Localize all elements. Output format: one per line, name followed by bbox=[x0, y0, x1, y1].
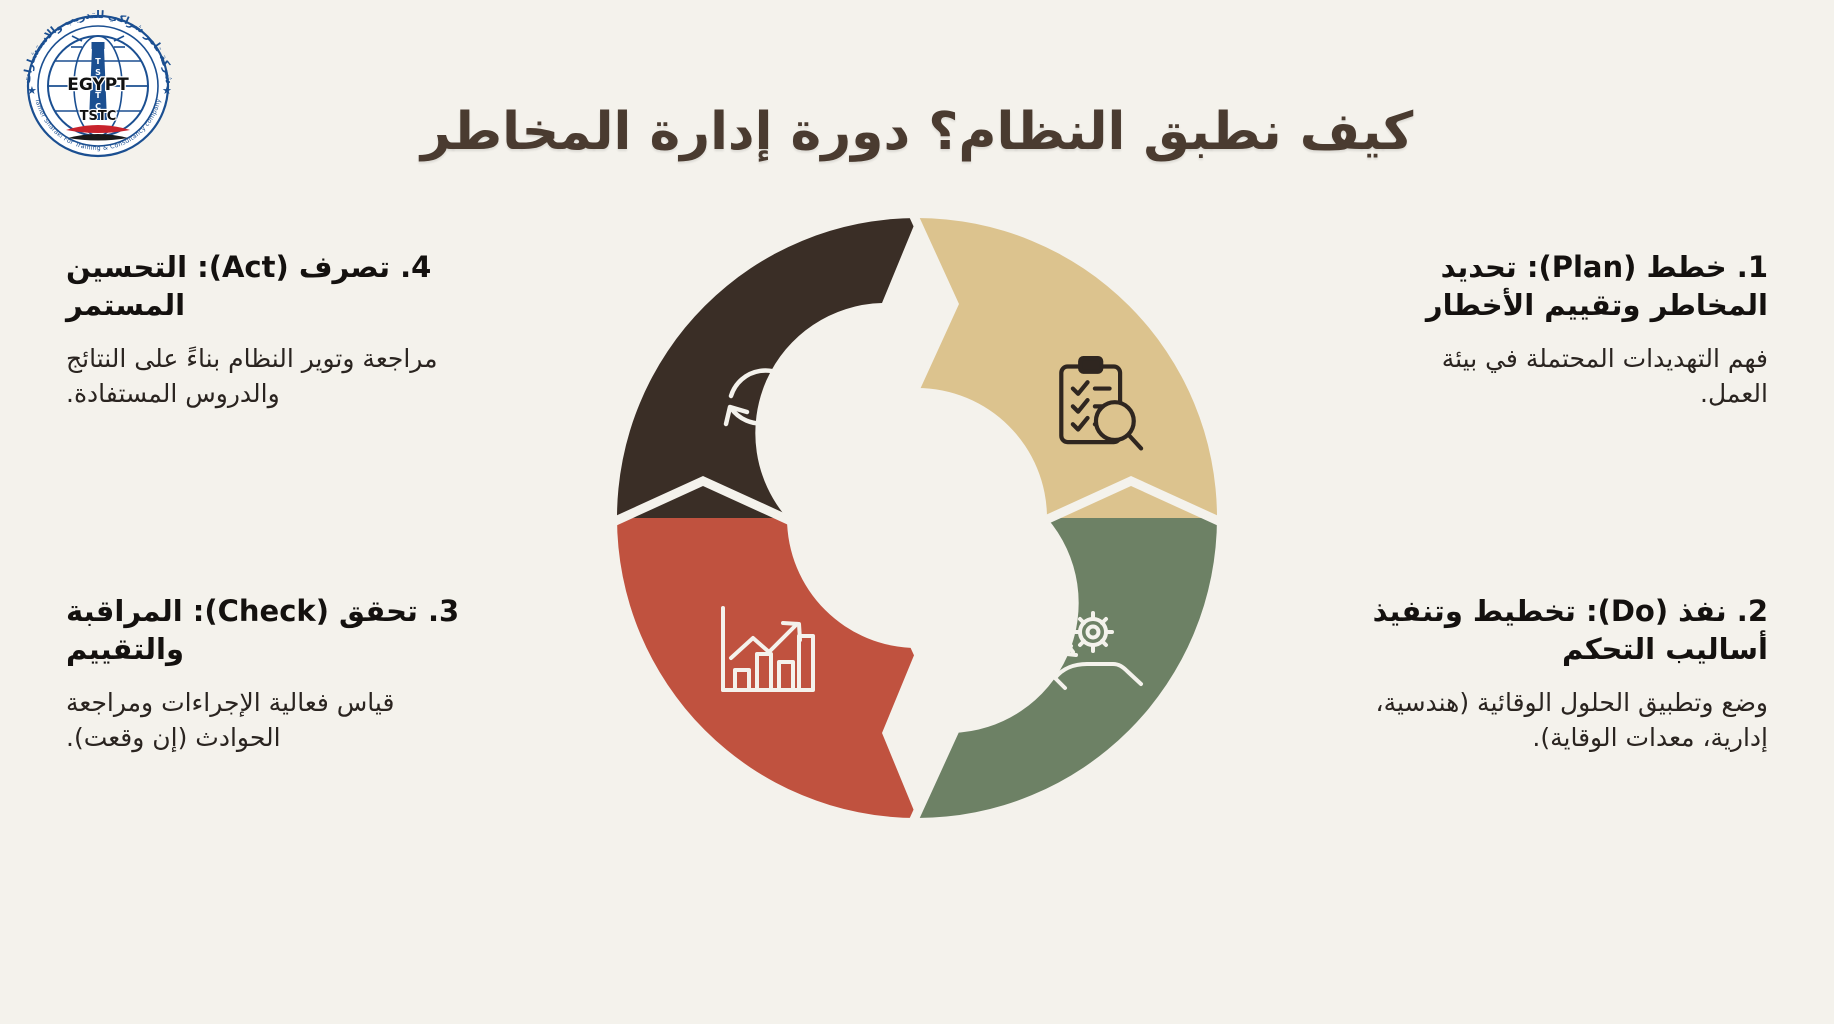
infographic-canvas: شركة تامر شراكي للتدريب والاستشارات Tame… bbox=[0, 0, 1834, 1024]
pdca-cycle-wheel bbox=[607, 208, 1227, 828]
step-heading-plan: 1. خطط (Plan): تحديد المخاطر وتقييم الأخ… bbox=[1368, 248, 1768, 325]
wheel-segment-check[interactable] bbox=[617, 518, 917, 818]
svg-text:★: ★ bbox=[27, 84, 37, 97]
step-body-check: قياس فعالية الإجراءات ومراجعة الحوادث (إ… bbox=[66, 685, 466, 756]
step-body-do: وضع وتطبيق الحلول الوقائية (هندسية، إدار… bbox=[1368, 685, 1768, 756]
step-body-act: مراجعة وتوير النظام بناءً على النتائج وا… bbox=[66, 341, 466, 412]
logo-country-text: EGYPT bbox=[67, 75, 129, 95]
step-block-check: 3. تحقق (Check): المراقبة والتقييم قياس … bbox=[66, 592, 466, 756]
step-body-plan: فهم التهديدات المحتملة في بيئة العمل. bbox=[1368, 341, 1768, 412]
step-heading-act: 4. تصرف (Act): التحسين المستمر bbox=[66, 248, 466, 325]
svg-text:T: T bbox=[95, 57, 101, 66]
step-heading-do: 2. نفذ (Do): تخطيط وتنفيذ أساليب التحكم bbox=[1368, 592, 1768, 669]
step-heading-check: 3. تحقق (Check): المراقبة والتقييم bbox=[66, 592, 466, 669]
step-block-do: 2. نفذ (Do): تخطيط وتنفيذ أساليب التحكم … bbox=[1368, 592, 1768, 756]
step-block-act: 4. تصرف (Act): التحسين المستمر مراجعة وت… bbox=[66, 248, 466, 412]
wheel-segment-act[interactable] bbox=[617, 218, 917, 518]
svg-text:★: ★ bbox=[162, 84, 172, 97]
page-title: كيف نطبق النظام؟ دورة إدارة المخاطر bbox=[0, 101, 1834, 164]
step-block-plan: 1. خطط (Plan): تحديد المخاطر وتقييم الأخ… bbox=[1368, 248, 1768, 412]
